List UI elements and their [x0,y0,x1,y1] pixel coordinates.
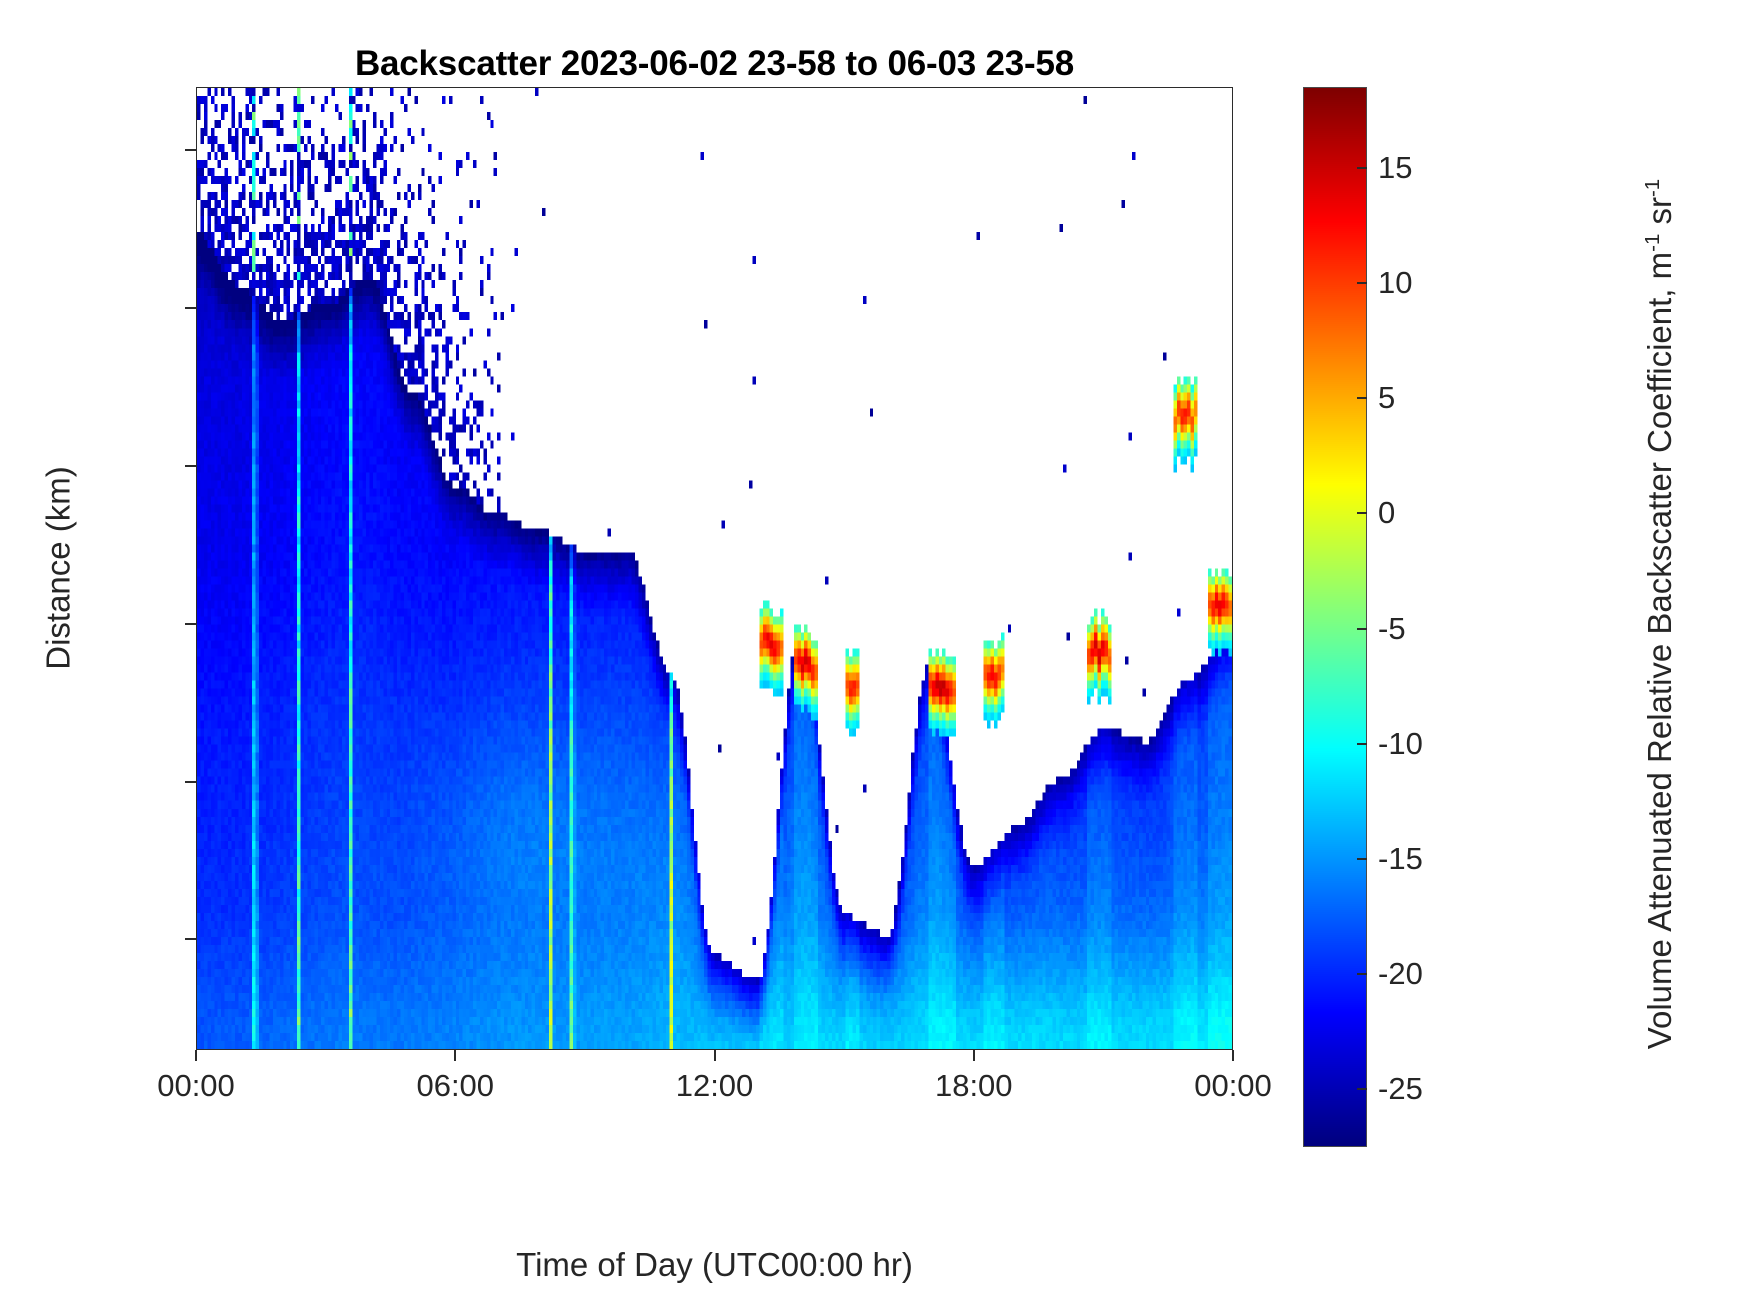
x-tick-mark [1232,1050,1234,1061]
colorbar-tick-mark [1357,1088,1367,1090]
y-tick-mark [185,149,196,151]
colorbar-tick-mark [1357,512,1367,514]
colorbar-title-exponent: -1 [1641,179,1664,197]
colorbar-tick-mark [1357,282,1367,284]
colorbar-title-text: Volume Attenuated Relative Backscatter C… [1641,252,1678,1049]
colorbar-tick-mark [1357,167,1367,169]
y-tick-mark [185,465,196,467]
colorbar-tick-label: 15 [1378,150,1412,186]
colorbar-tick-label: -15 [1378,841,1423,877]
colorbar-tick-label: 5 [1378,380,1395,416]
y-tick-mark [185,781,196,783]
colorbar-tick-label: -10 [1378,726,1423,762]
heatmap-plot-area[interactable] [196,87,1233,1050]
colorbar[interactable] [1303,87,1367,1147]
colorbar-tick-label: -20 [1378,956,1423,992]
x-tick-mark [454,1050,456,1061]
colorbar-title: Volume Attenuated Relative Backscatter C… [1641,64,1679,1164]
colorbar-tick-mark [1357,973,1367,975]
y-tick-mark [185,623,196,625]
x-tick-mark [973,1050,975,1061]
colorbar-tick-label: -5 [1378,611,1406,647]
page-title: Backscatter 2023-06-02 23-58 to 06-03 23… [196,44,1233,84]
backscatter-heatmap-canvas [197,88,1232,1049]
x-tick-label: 00:00 [157,1068,235,1104]
x-tick-label: 12:00 [676,1068,754,1104]
colorbar-tick-label: 0 [1378,495,1395,531]
x-tick-label: 00:00 [1194,1068,1272,1104]
colorbar-tick-mark [1357,743,1367,745]
y-axis-title: Distance (km) [39,86,77,1049]
x-tick-label: 18:00 [935,1068,1013,1104]
figure-root: Backscatter 2023-06-02 23-58 to 06-03 23… [0,0,1750,1313]
colorbar-tick-mark [1357,628,1367,630]
x-tick-mark [714,1050,716,1061]
colorbar-gradient [1304,88,1366,1146]
colorbar-tick-label: -25 [1378,1071,1423,1107]
colorbar-title-text: sr [1641,197,1678,234]
y-tick-mark [185,938,196,940]
colorbar-tick-label: 10 [1378,265,1412,301]
x-tick-mark [195,1050,197,1061]
y-tick-mark [185,307,196,309]
colorbar-tick-mark [1357,858,1367,860]
x-axis-title: Time of Day (UTC00:00 hr) [196,1246,1233,1284]
colorbar-title-exponent: -1 [1641,234,1664,252]
colorbar-tick-mark [1357,397,1367,399]
x-tick-label: 06:00 [416,1068,494,1104]
